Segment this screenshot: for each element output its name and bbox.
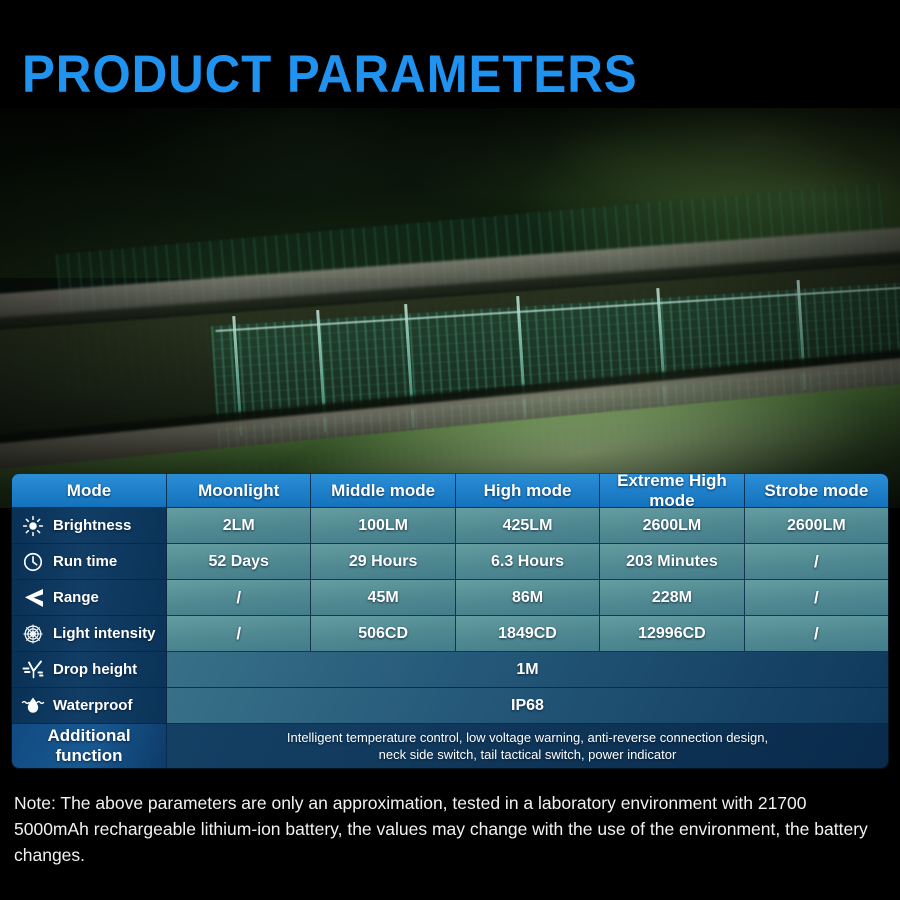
background-night-photo (0, 108, 900, 508)
cell-drop-height-value: 1M (167, 652, 888, 688)
cell-runtime-middle: 29 Hours (311, 544, 455, 580)
cell-brightness-strobe: 2600LM (745, 508, 888, 544)
table-row: Drop height 1M (12, 652, 888, 688)
clock-icon (20, 551, 46, 573)
cell-range-moonlight: / (167, 580, 311, 616)
drop-height-icon (20, 659, 46, 681)
row-label-text: Light intensity (53, 625, 156, 642)
cell-intensity-extreme: 12996CD (600, 616, 744, 652)
cell-intensity-moonlight: / (167, 616, 311, 652)
row-label-text: Waterproof (53, 697, 132, 714)
column-header-high-mode: High mode (456, 474, 600, 508)
column-header-mode: Mode (12, 474, 167, 508)
additional-function-line-1: Intelligent temperature control, low vol… (287, 729, 768, 746)
cell-range-middle: 45M (311, 580, 455, 616)
row-label-light-intensity: Light intensity (12, 616, 167, 652)
row-label-text: Range (53, 589, 99, 606)
row-label-text: Brightness (53, 517, 131, 534)
cell-range-extreme: 228M (600, 580, 744, 616)
row-label-text: Run time (53, 553, 117, 570)
photo-vignette (0, 108, 900, 508)
cell-brightness-extreme: 2600LM (600, 508, 744, 544)
cell-additional-function-value: Intelligent temperature control, low vol… (167, 724, 888, 768)
cell-runtime-high: 6.3 Hours (456, 544, 600, 580)
column-header-strobe-mode: Strobe mode (745, 474, 888, 508)
table-row: Light intensity / 506CD 1849CD 12996CD / (12, 616, 888, 652)
column-header-middle-mode: Middle mode (311, 474, 455, 508)
target-icon (20, 623, 46, 645)
row-label-additional-function: Additional function (12, 724, 167, 768)
cell-range-high: 86M (456, 580, 600, 616)
table-row: Additional function Intelligent temperat… (12, 724, 888, 768)
table-row: Range / 45M 86M 228M / (12, 580, 888, 616)
cell-range-strobe: / (745, 580, 888, 616)
cell-brightness-moonlight: 2LM (167, 508, 311, 544)
cell-intensity-high: 1849CD (456, 616, 600, 652)
row-label-range: Range (12, 580, 167, 616)
column-header-extreme-high-mode: Extreme High mode (600, 474, 744, 508)
cell-brightness-middle: 100LM (311, 508, 455, 544)
table-row: Brightness 2LM 100LM 425LM 2600LM 2600LM (12, 508, 888, 544)
cell-runtime-strobe: / (745, 544, 888, 580)
waterproof-icon (20, 695, 46, 717)
footer-note: Note: The above parameters are only an a… (14, 790, 880, 868)
row-label-text: Drop height (53, 661, 137, 678)
cell-runtime-moonlight: 52 Days (167, 544, 311, 580)
row-label-brightness: Brightness (12, 508, 167, 544)
additional-function-line-2: neck side switch, tail tactical switch, … (379, 746, 677, 763)
product-parameters-page: PRODUCT PARAMETERS Mode Moonlight Middle… (0, 0, 900, 900)
row-label-waterproof: Waterproof (12, 688, 167, 724)
cell-intensity-strobe: / (745, 616, 888, 652)
column-header-moonlight: Moonlight (167, 474, 311, 508)
row-label-run-time: Run time (12, 544, 167, 580)
cell-waterproof-value: IP68 (167, 688, 888, 724)
cell-runtime-extreme: 203 Minutes (600, 544, 744, 580)
row-label-drop-height: Drop height (12, 652, 167, 688)
table-row: Run time 52 Days 29 Hours 6.3 Hours 203 … (12, 544, 888, 580)
beam-icon (20, 588, 46, 608)
cell-brightness-high: 425LM (456, 508, 600, 544)
sun-icon (20, 515, 46, 537)
parameters-table: Mode Moonlight Middle mode High mode Ext… (12, 474, 888, 768)
table-row: Waterproof IP68 (12, 688, 888, 724)
table-header-row: Mode Moonlight Middle mode High mode Ext… (12, 474, 888, 508)
page-title: PRODUCT PARAMETERS (22, 48, 638, 102)
cell-intensity-middle: 506CD (311, 616, 455, 652)
